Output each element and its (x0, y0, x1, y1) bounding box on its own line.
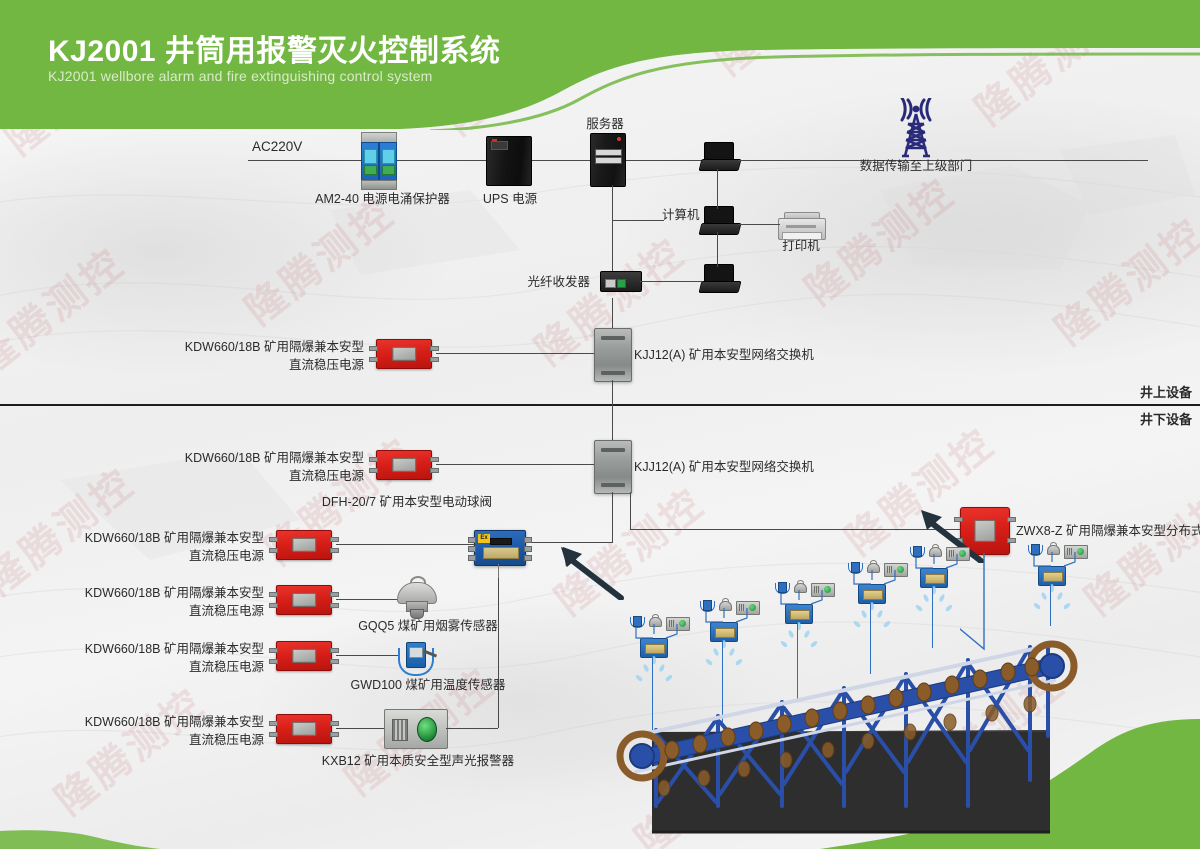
conveyor-belt (600, 540, 1200, 849)
line-psu5-to-alarm (336, 728, 384, 729)
label-power-supply-surface-l1: KDW660/18B 矿用隔爆兼本安型 (168, 339, 364, 356)
electric-ball-valve: Ex (474, 530, 526, 566)
label-fiber-converter: 光纤收发器 (490, 274, 590, 291)
power-supply-u3 (276, 585, 332, 615)
power-supply-u5 (276, 714, 332, 744)
label-printer: 打印机 (772, 238, 830, 255)
line-pc2-pc3 (717, 232, 718, 267)
line-psu2-to-valve (336, 544, 476, 545)
line-converter-to-switch (612, 298, 613, 330)
label-psu-u4-l1: KDW660/18B 矿用隔爆兼本安型 (68, 641, 264, 658)
antenna-tower (886, 98, 946, 165)
line-switch-down-valve (612, 492, 613, 542)
label-smoke-sensor: GQQ5 煤矿用烟雾传感器 (348, 618, 508, 635)
line-switch-down-to-dts (630, 492, 631, 530)
surface-underground-divider (0, 404, 1200, 406)
label-below-ground: 井下设备 (1140, 411, 1192, 428)
label-psu-u5-l2: 直流稳压电源 (68, 732, 264, 749)
server-device (590, 133, 626, 187)
audible-alarm-device (384, 709, 448, 749)
label-psu-u1-l1: KDW660/18B 矿用隔爆兼本安型 (168, 450, 364, 467)
label-psu-u5-l1: KDW660/18B 矿用隔爆兼本安型 (68, 714, 264, 731)
power-supply-u1 (376, 450, 432, 480)
line-to-computer-label (612, 220, 664, 221)
label-switch-underground: KJJ12(A) 矿用本安型网络交换机 (634, 459, 814, 476)
system-diagram: AC220V AM2-40 电源电涌保护器 UPS 电源 服务器 (0, 0, 1200, 849)
label-power-supply-surface-l2: 直流稳压电源 (168, 357, 364, 374)
label-psu-u4-l2: 直流稳压电源 (68, 659, 264, 676)
line-pc2-printer (738, 224, 780, 225)
label-spd: AM2-40 电源电涌保护器 (305, 191, 460, 208)
line-power-to-switch-surface (436, 353, 594, 354)
line-valve-trunk (498, 578, 499, 728)
diagram-canvas: 隆腾测控 隆腾测控 隆腾测控 隆腾测控 隆腾测控 隆腾测控 隆腾测控 隆腾测控 … (0, 0, 1200, 849)
label-temp-sensor: GWD100 煤矿用温度传感器 (340, 677, 516, 694)
line-alarm-to-trunk (446, 728, 498, 729)
label-dts-host: ZWX8-Z 矿用隔爆兼本安型分布式光纤测温装置主机 (1016, 523, 1200, 540)
power-supply-surface (376, 339, 432, 369)
label-ups: UPS 电源 (480, 191, 540, 208)
valve-stem (498, 564, 499, 578)
label-psu-u2-l1: KDW660/18B 矿用隔爆兼本安型 (68, 530, 264, 547)
label-ball-valve: DFH-20/7 矿用本安型电动球阀 (272, 494, 492, 511)
label-uplink: 数据传输至上级部门 (846, 158, 986, 175)
line-pc1-pc2 (717, 169, 718, 209)
network-switch-underground (594, 440, 632, 494)
label-psu-u3-l2: 直流稳压电源 (68, 603, 264, 620)
line-converter-to-pc3 (640, 281, 702, 282)
label-above-ground: 井上设备 (1140, 384, 1192, 401)
label-ac220v: AC220V (252, 138, 302, 155)
line-psu3-to-smoke (336, 599, 398, 600)
power-supply-u2 (276, 530, 332, 560)
label-audible-alarm: KXB12 矿用本质安全型声光报警器 (312, 753, 524, 770)
line-psu4-to-temp (336, 655, 398, 656)
label-switch-surface: KJJ12(A) 矿用本安型网络交换机 (634, 347, 814, 364)
line-psu1-to-switch (436, 464, 594, 465)
network-switch-surface (594, 328, 632, 382)
label-psu-u3-l1: KDW660/18B 矿用隔爆兼本安型 (68, 585, 264, 602)
ups-device (486, 136, 532, 186)
fiber-converter-device (600, 271, 642, 292)
label-psu-u2-l2: 直流稳压电源 (68, 548, 264, 565)
label-server: 服务器 (565, 116, 645, 133)
label-computer: 计算机 (662, 207, 700, 224)
label-psu-u1-l2: 直流稳压电源 (168, 468, 364, 485)
line-switch-to-dts (630, 529, 960, 530)
power-supply-u4 (276, 641, 332, 671)
line-ac-to-server (248, 160, 613, 161)
